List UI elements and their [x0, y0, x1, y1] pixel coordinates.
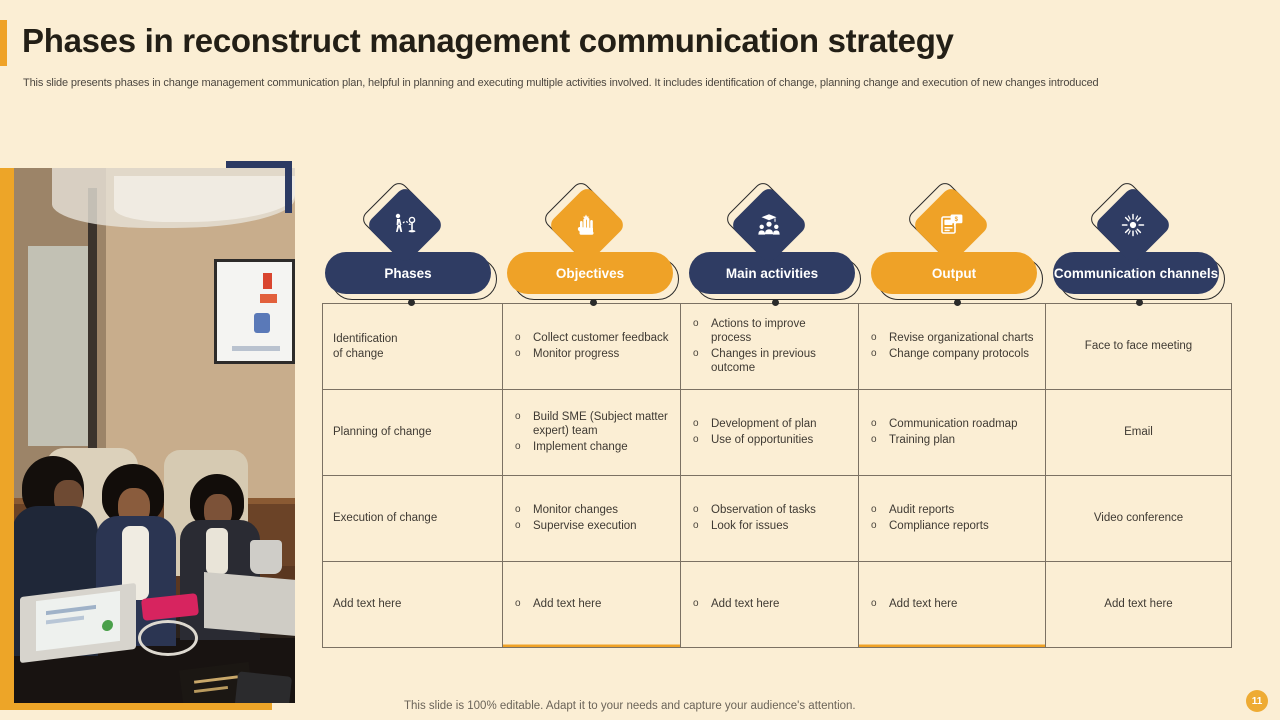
cell-channel: Add text here [1045, 562, 1232, 647]
cell-objectives: Monitor changes Supervise execution [502, 476, 680, 561]
cell-channel: Email [1045, 390, 1232, 475]
cell-output: Revise organizational charts Change comp… [858, 304, 1045, 389]
list-item: Development of plan [691, 417, 816, 432]
cell-activities: Development of plan Use of opportunities [680, 390, 858, 475]
list-item: Add text here [869, 597, 957, 612]
column-header-phases[interactable]: Phases [325, 252, 495, 296]
cell-objectives: Add text here [502, 562, 680, 647]
table-row: Execution of change Monitor changes Supe… [322, 475, 1232, 561]
column-header-main-activities[interactable]: Main activities [689, 252, 859, 296]
cell-phase: Execution of change [322, 476, 502, 561]
cell-objectives: Build SME (Subject matter expert) team I… [502, 390, 680, 475]
title-accent-bar [0, 20, 7, 66]
connector-dot [1136, 299, 1143, 306]
cell-phase: Add text here [322, 562, 502, 647]
cell-activities: Add text here [680, 562, 858, 647]
meeting-photo [14, 168, 295, 703]
cell-activities: Observation of tasks Look for issues [680, 476, 858, 561]
list-item: Actions to improve process [691, 317, 848, 346]
cell-activities: Actions to improve process Changes in pr… [680, 304, 858, 389]
cell-output: Communication roadmap Training plan [858, 390, 1045, 475]
list-item: Communication roadmap [869, 417, 1017, 432]
page-number-badge: 11 [1246, 690, 1268, 712]
cell-channel: Video conference [1045, 476, 1232, 561]
list-item: Monitor changes [513, 503, 637, 518]
list-item: Monitor progress [513, 347, 669, 362]
list-item: Observation of tasks [691, 503, 816, 518]
list-item: Audit reports [869, 503, 989, 518]
list-item: Look for issues [691, 519, 816, 534]
list-item: Compliance reports [869, 519, 989, 534]
column-header-output[interactable]: $ Output [871, 252, 1041, 296]
cell-channel: Face to face meeting [1045, 304, 1232, 389]
list-item: Training plan [869, 433, 1017, 448]
list-item: Collect customer feedback [513, 331, 669, 346]
photo-corner-bracket [226, 161, 292, 213]
list-item: Implement change [513, 440, 670, 455]
connector-dot [954, 299, 961, 306]
list-item: Revise organizational charts [869, 331, 1033, 346]
column-header-objectives[interactable]: Objectives [507, 252, 677, 296]
list-item: Supervise execution [513, 519, 637, 534]
list-item: Add text here [691, 597, 779, 612]
list-item: Add text here [513, 597, 601, 612]
phases-table: Identification of change Collect custome… [322, 303, 1232, 644]
connector-dot [772, 299, 779, 306]
connector-dot [408, 299, 415, 306]
column-header-communication-channels[interactable]: Communication channels [1053, 252, 1223, 296]
cell-output: Audit reports Compliance reports [858, 476, 1045, 561]
page-title: Phases in reconstruct management communi… [22, 22, 954, 60]
footer-note: This slide is 100% editable. Adapt it to… [404, 700, 856, 712]
cell-phase: Planning of change [322, 390, 502, 475]
slide-canvas: Phases in reconstruct management communi… [0, 0, 1280, 720]
table-row: Identification of change Collect custome… [322, 303, 1232, 389]
page-subtitle: This slide presents phases in change man… [23, 77, 1253, 89]
table-row: Add text here Add text here Add text her… [322, 561, 1232, 648]
cell-output: Add text here [858, 562, 1045, 647]
list-item: Change company protocols [869, 347, 1033, 362]
connector-dot [590, 299, 597, 306]
list-item: Build SME (Subject matter expert) team [513, 410, 670, 439]
table-row: Planning of change Build SME (Subject ma… [322, 389, 1232, 475]
list-item: Use of opportunities [691, 433, 816, 448]
cell-objectives: Collect customer feedback Monitor progre… [502, 304, 680, 389]
list-item: Changes in previous outcome [691, 347, 848, 376]
cell-phase: Identification of change [322, 304, 502, 389]
